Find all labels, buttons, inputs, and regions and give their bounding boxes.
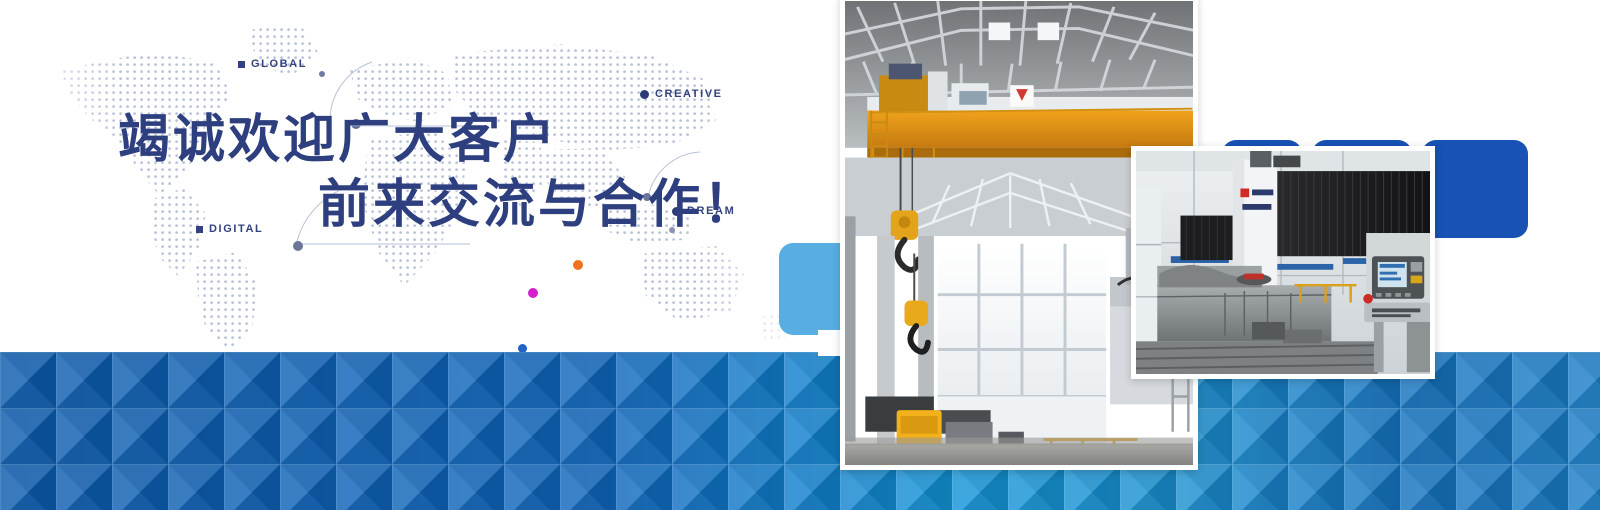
- decorative-dot-magenta: [528, 288, 538, 298]
- map-label-text: DIGITAL: [209, 223, 263, 235]
- headline-line-1: 竭诚欢迎广大客户: [118, 108, 758, 173]
- map-label-global: GLOBAL: [238, 58, 307, 70]
- map-label-text: DREAM: [687, 205, 735, 217]
- promo-banner: GLOBAL CREATIVE DIGITAL DREAM 竭诚欢迎广大客户 前…: [0, 0, 1600, 510]
- map-label-text: GLOBAL: [251, 58, 307, 70]
- map-label-creative: CREATIVE: [640, 88, 723, 100]
- headline: 竭诚欢迎广大客户 前来交流与合作！: [118, 108, 758, 238]
- left-white-fade: [0, 0, 120, 352]
- map-label-digital: DIGITAL: [196, 223, 263, 235]
- square-marker-icon: [238, 61, 245, 68]
- round-marker-icon: [672, 207, 681, 216]
- cnc-gantry-machine-photo: [1131, 146, 1435, 379]
- map-connector-arcs: [0, 0, 840, 352]
- map-label-dream: DREAM: [672, 205, 735, 217]
- square-marker-icon: [196, 226, 203, 233]
- world-map-dots: [0, 0, 820, 352]
- round-marker-icon: [640, 90, 649, 99]
- map-label-text: CREATIVE: [655, 88, 723, 100]
- decorative-dot-orange: [573, 260, 583, 270]
- accent-tab-blue-3: [1422, 140, 1528, 238]
